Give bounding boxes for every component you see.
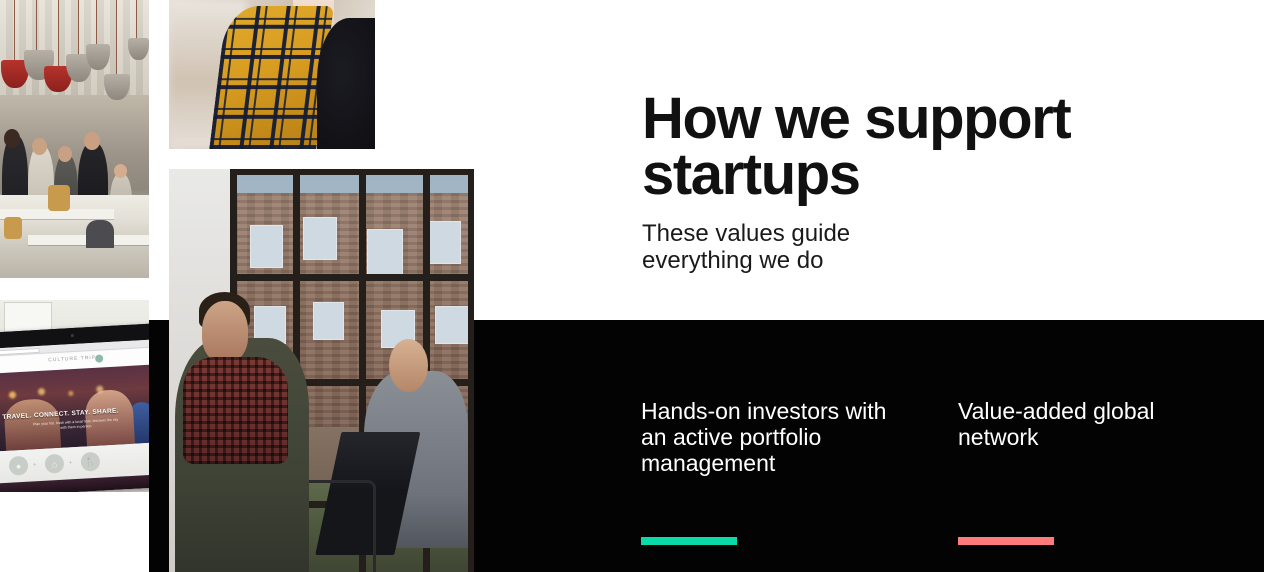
cutlery-icon: 🍴	[80, 452, 100, 472]
coworking-space-photo	[0, 0, 149, 278]
value-card-accent-bar	[641, 537, 737, 545]
value-card-value-added-network: Value-added global network	[958, 398, 1218, 450]
page-title: How we support startups	[642, 91, 1162, 203]
office-window-photo	[169, 169, 474, 572]
value-card-title: Hands-on investors with an active portfo…	[641, 398, 901, 476]
page-subtitle: These values guide everything we do	[642, 220, 942, 274]
home-icon: ⌂	[44, 454, 64, 474]
screen-logo-text: CULTURE TRIP	[48, 355, 96, 364]
value-card-hands-on-investors: Hands-on investors with an active portfo…	[641, 398, 901, 476]
chat-icon: ●	[9, 456, 29, 476]
slide-canvas: CULTURE TRIP TRAVEL. CONNECT. STAY. SHAR…	[0, 0, 1264, 572]
laptop-travel-site-photo: CULTURE TRIP TRAVEL. CONNECT. STAY. SHAR…	[0, 300, 149, 492]
screen-logo-mark	[95, 354, 103, 362]
plaid-shirt-photo	[169, 0, 375, 149]
value-card-accent-bar	[958, 537, 1054, 545]
value-card-title: Value-added global network	[958, 398, 1218, 450]
